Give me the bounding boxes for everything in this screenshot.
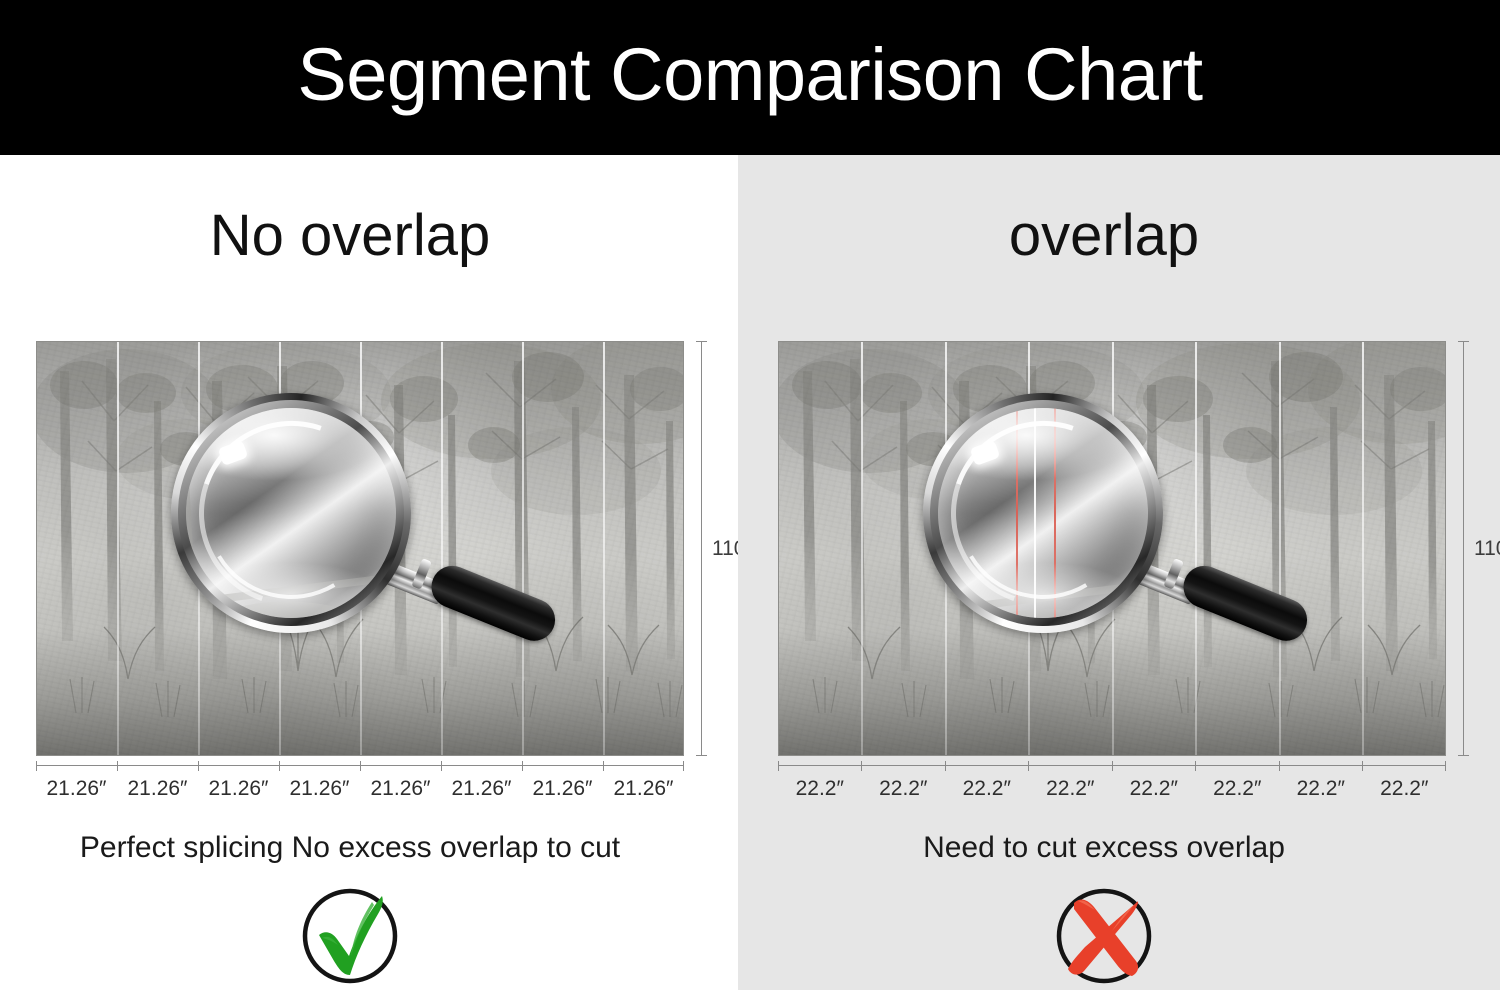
segment-label: 22.2″ xyxy=(945,777,1029,801)
segment-label: 22.2″ xyxy=(1029,777,1113,801)
status-icon-pass xyxy=(298,883,402,987)
segment-label: 22.2″ xyxy=(1112,777,1196,801)
panel-right-heading: overlap xyxy=(738,207,1500,265)
red-cross-icon xyxy=(1052,883,1156,987)
segment-label: 21.26″ xyxy=(360,777,441,801)
panel-no-overlap: No overlap xyxy=(0,155,738,990)
caption-left: Perfect splicing No excess overlap to cu… xyxy=(0,833,738,863)
segment-label: 21.26″ xyxy=(117,777,198,801)
segment-label: 21.26″ xyxy=(279,777,360,801)
segment-label: 21.26″ xyxy=(522,777,603,801)
height-dimension-right: 110″ xyxy=(1458,341,1500,756)
screenshot-root: Segment Comparison Chart No overlap xyxy=(0,0,1500,990)
mural-right-image xyxy=(778,341,1446,756)
segment-label: 22.2″ xyxy=(1363,777,1447,801)
segment-label: 21.26″ xyxy=(603,777,684,801)
status-icon-fail xyxy=(1052,883,1156,987)
segment-labels-right: 22.2″ 22.2″ 22.2″ 22.2″ 22.2″ 22.2″ 22.2… xyxy=(778,777,1446,801)
segment-label: 22.2″ xyxy=(1196,777,1280,801)
segment-label: 21.26″ xyxy=(198,777,279,801)
panel-overlap: overlap xyxy=(738,155,1500,990)
segment-label: 22.2″ xyxy=(1279,777,1363,801)
green-check-icon xyxy=(298,883,402,987)
mural-right-wrapper: 110″ 22.2″ 22.2″ 22.2″ 22.2″ 22.2″ xyxy=(778,341,1446,756)
segment-label: 21.26″ xyxy=(36,777,117,801)
mural-left-image xyxy=(36,341,684,756)
page-title: Segment Comparison Chart xyxy=(0,0,1500,155)
segment-label: 21.26″ xyxy=(441,777,522,801)
caption-right: Need to cut excess overlap xyxy=(738,833,1500,863)
title-banner: Segment Comparison Chart xyxy=(0,0,1500,155)
mural-texture-right xyxy=(778,341,1446,756)
mural-texture-left xyxy=(36,341,684,756)
segment-label: 22.2″ xyxy=(862,777,946,801)
mural-left-wrapper: 110″ 21.26″ 21.26″ 21.26″ 21.26″ 2 xyxy=(36,341,684,756)
segment-labels-left: 21.26″ 21.26″ 21.26″ 21.26″ 21.26″ 21.26… xyxy=(36,777,684,801)
segment-label: 22.2″ xyxy=(778,777,862,801)
height-label-right: 110″ xyxy=(1474,537,1500,561)
panel-left-heading: No overlap xyxy=(0,207,738,265)
